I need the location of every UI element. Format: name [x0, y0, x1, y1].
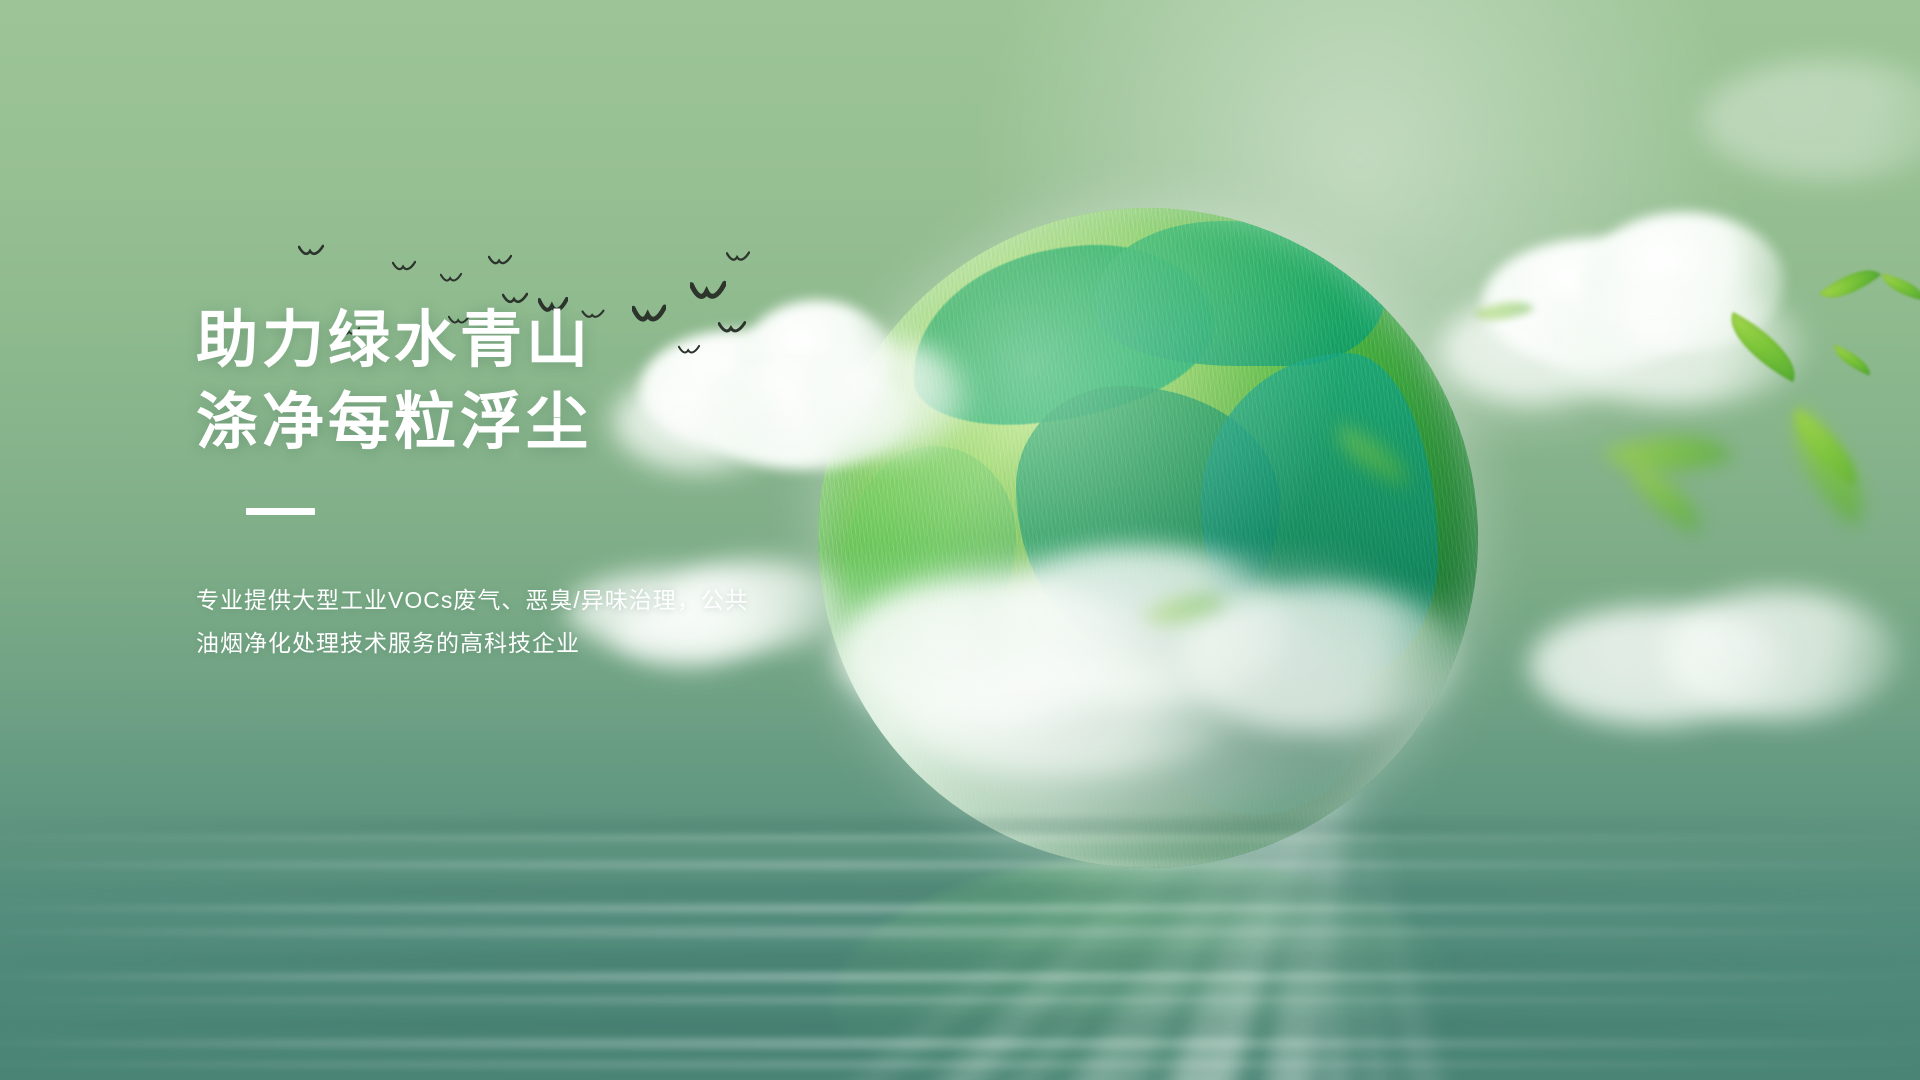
bird-icon — [298, 244, 324, 260]
water-ripple — [0, 882, 1920, 900]
bird-icon — [392, 260, 416, 275]
water-ripple — [0, 1014, 1920, 1036]
water-ripple — [0, 926, 1920, 938]
water-ripple — [0, 904, 1920, 913]
hero-banner: 助力绿水青山 涤净每粒浮尘 专业提供大型工业VOCs废气、恶臭/异味治理，公共油… — [0, 0, 1920, 1080]
earth-globe — [818, 208, 1478, 868]
water-ripple — [0, 950, 1920, 970]
water-surface — [0, 800, 1920, 1080]
globe-rim-light — [818, 208, 1478, 868]
title-divider — [246, 508, 315, 515]
water-ripple — [0, 996, 1920, 1004]
water-ripple — [0, 860, 1920, 870]
bird-icon — [488, 254, 512, 269]
page-title: 助力绿水青山 涤净每粒浮尘 — [196, 300, 916, 464]
bird-icon — [440, 272, 462, 286]
headline-line-1: 助力绿水青山 — [196, 300, 916, 382]
globe-sphere — [818, 208, 1478, 868]
water-ripple — [0, 1060, 1920, 1069]
water-ripple — [0, 972, 1920, 982]
headline-line-2: 涤净每粒浮尘 — [196, 382, 916, 464]
water-ripple — [0, 834, 1920, 842]
water-ripple — [0, 818, 1920, 834]
water-ripple — [0, 1038, 1920, 1049]
bird-icon — [726, 250, 750, 266]
hero-copy: 助力绿水青山 涤净每粒浮尘 专业提供大型工业VOCs废气、恶臭/异味治理，公共油… — [196, 300, 916, 666]
hero-subtitle: 专业提供大型工业VOCs废气、恶臭/异味治理，公共油烟净化处理技术服务的高科技企… — [196, 579, 756, 666]
